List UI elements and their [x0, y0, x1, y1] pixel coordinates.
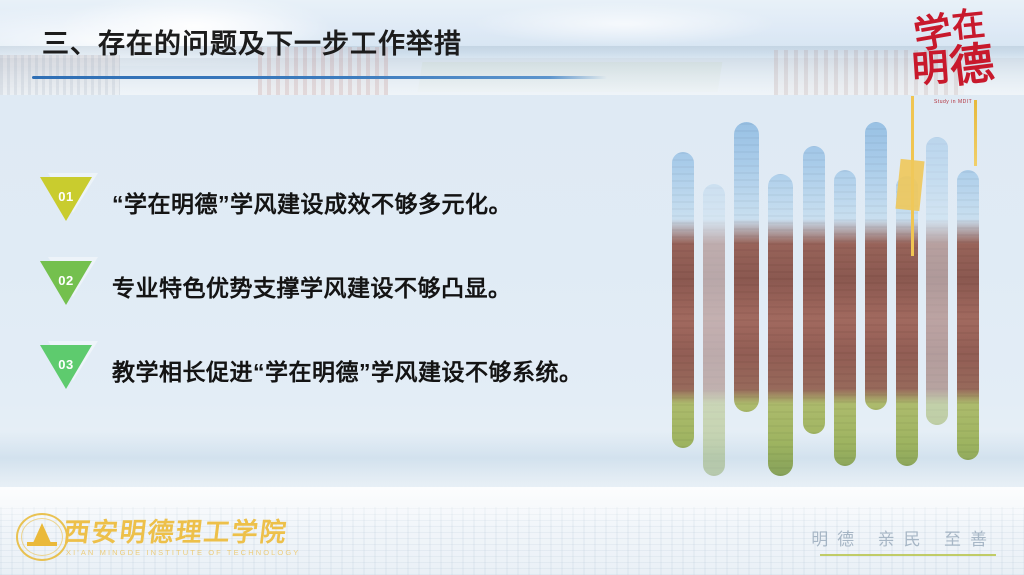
school-emblem-icon [14, 511, 70, 563]
school-name-english: XI'AN MINGDE INSTITUTE OF TECHNOLOGY [66, 548, 300, 557]
bullet-marker-03: 03 [40, 341, 98, 399]
seal-characters: 学 在 明 德 [912, 6, 1016, 106]
campus-photo-collage [672, 104, 1002, 476]
seal-char-ming: 明 [911, 49, 950, 88]
bullet-text: 教学相长促进“学在明德”学风建设不够系统。 [112, 353, 583, 387]
motto-underline [820, 554, 996, 556]
photo-stripe [803, 146, 825, 434]
photo-stripe [865, 122, 887, 410]
emblem-base-shape [27, 542, 57, 546]
photo-stripe [703, 184, 725, 476]
photo-stripe [896, 176, 918, 466]
seal-char-zai: 在 [950, 6, 986, 42]
photo-stripe [672, 152, 694, 448]
school-motto: 明德 亲民 至善 [811, 525, 996, 550]
page-title: 三、存在的问题及下一步工作举措 [42, 22, 462, 61]
photo-stripe [926, 137, 948, 425]
problem-list: 01 “学在明德”学风建设成效不够多元化。 02 专业特色优势支撑学风建设不够凸… [40, 160, 680, 412]
background-building-left [0, 55, 120, 95]
list-item: 03 教学相长促进“学在明德”学风建设不够系统。 [40, 328, 680, 412]
bullet-text: “学在明德”学风建设成效不够多元化。 [112, 185, 512, 219]
school-name-chinese: 西安明德理工学院 [62, 512, 291, 549]
emblem-tower-shape [33, 523, 51, 543]
photo-stripe [834, 170, 856, 466]
study-in-mingde-seal-logo: 学 在 明 德 Study in MDIT [912, 6, 1016, 106]
slide-canvas: 三、存在的问题及下一步工作举措 学 在 明 德 Study in MDIT 01… [0, 0, 1024, 575]
title-underline [32, 76, 607, 79]
bullet-number: 02 [40, 273, 92, 288]
seal-char-de: 德 [947, 41, 996, 90]
bullet-number: 03 [40, 357, 92, 372]
bullet-marker-02: 02 [40, 257, 98, 315]
bullet-number: 01 [40, 189, 92, 204]
bullet-text: 专业特色优势支撑学风建设不够凸显。 [112, 269, 512, 303]
bullet-marker-01: 01 [40, 173, 98, 231]
photo-stripe [957, 170, 979, 460]
cloud-shape [471, 2, 778, 46]
photo-stripe [768, 174, 793, 476]
flag-banner-icon [895, 159, 924, 211]
list-item: 02 专业特色优势支撑学风建设不够凸显。 [40, 244, 680, 328]
photo-stripe [734, 122, 759, 412]
list-item: 01 “学在明德”学风建设成效不够多元化。 [40, 160, 680, 244]
